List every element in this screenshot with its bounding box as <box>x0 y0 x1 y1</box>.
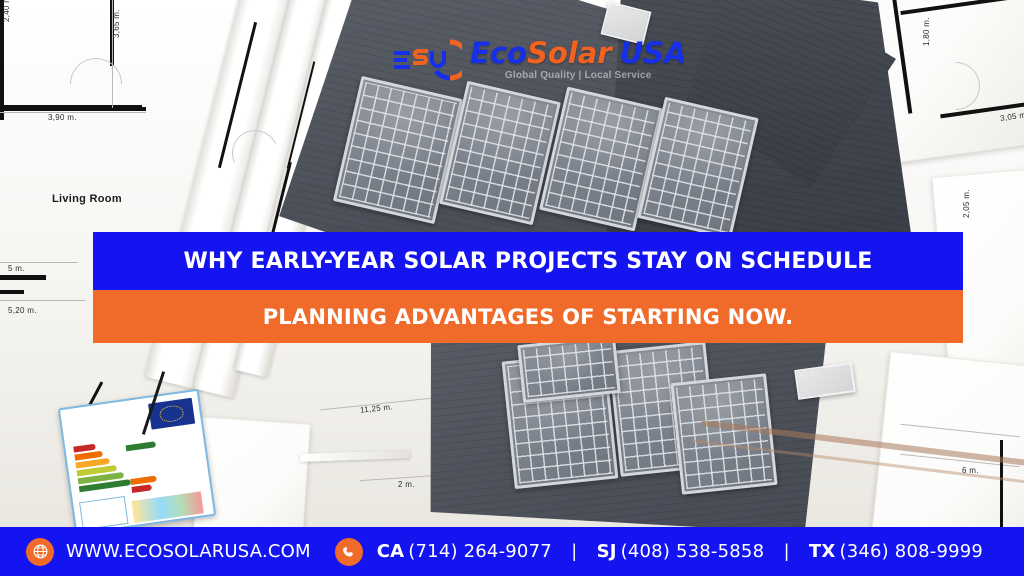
contact-ca-number[interactable]: (714) 264-9077 <box>408 541 552 562</box>
contact-footer: WWW.ECOSOLARUSA.COM CA (714) 264-9077 | … <box>0 527 1024 576</box>
contact-ca[interactable]: CA (714) 264-9077 <box>377 541 552 562</box>
brand-name-usa: USA <box>620 36 687 70</box>
room-label: Living Room <box>52 193 122 205</box>
contact-sj[interactable]: SJ (408) 538-5858 <box>597 541 765 562</box>
dimension-label: 1,80 m. <box>922 17 931 46</box>
globe-icon <box>26 538 54 566</box>
solar-panel <box>670 373 777 494</box>
contact-sj-region: SJ <box>597 541 617 562</box>
contact-tx[interactable]: TX (346) 808-9999 <box>809 541 983 562</box>
subheadline-bar: PLANNING ADVANTAGES OF STARTING NOW. <box>93 290 963 343</box>
contact-separator: | <box>778 541 795 562</box>
headline-bar: WHY EARLY-YEAR SOLAR PROJECTS STAY ON SC… <box>93 232 963 290</box>
contact-tx-number[interactable]: (346) 808-9999 <box>839 541 983 562</box>
headline-text: WHY EARLY-YEAR SOLAR PROJECTS STAY ON SC… <box>183 249 872 274</box>
contact-ca-region: CA <box>377 541 405 562</box>
contact-separator: | <box>566 541 583 562</box>
dimension-label: 2 m. <box>398 480 415 489</box>
website-url[interactable]: WWW.ECOSOLARUSA.COM <box>66 541 311 562</box>
dimension-label: 2,40 m. <box>2 0 11 22</box>
brand-logo[interactable]: EcoSolarUSA Global Quality | Local Servi… <box>392 30 692 90</box>
dimension-label: 3,90 m. <box>48 113 77 122</box>
energy-efficiency-label <box>58 389 216 536</box>
contact-tx-region: TX <box>809 541 836 562</box>
brand-name-solar: Solar <box>527 36 612 70</box>
dimension-label: 2,05 m. <box>962 189 971 218</box>
poster-canvas: 3,90 m. 3,65 m. 2,40 m. Living Room 5 m.… <box>0 0 1024 576</box>
phone-icon <box>335 538 363 566</box>
dimension-label: 5 m. <box>8 264 25 273</box>
solar-panel <box>517 335 621 403</box>
dimension-label: 5,20 m. <box>8 306 37 315</box>
subheadline-text: PLANNING ADVANTAGES OF STARTING NOW. <box>263 305 794 329</box>
brand-tagline: Global Quality | Local Service <box>470 70 686 81</box>
esu-monogram-icon <box>392 38 462 82</box>
brand-name-eco: Eco <box>470 36 527 70</box>
contact-sj-number[interactable]: (408) 538-5858 <box>621 541 765 562</box>
phone-item[interactable]: CA (714) 264-9077 | SJ (408) 538-5858 | … <box>335 538 983 566</box>
dimension-label: 3,65 m. <box>112 9 121 38</box>
website-item[interactable]: WWW.ECOSOLARUSA.COM <box>26 538 311 566</box>
brand-wordmark: EcoSolarUSA Global Quality | Local Servi… <box>470 39 686 81</box>
